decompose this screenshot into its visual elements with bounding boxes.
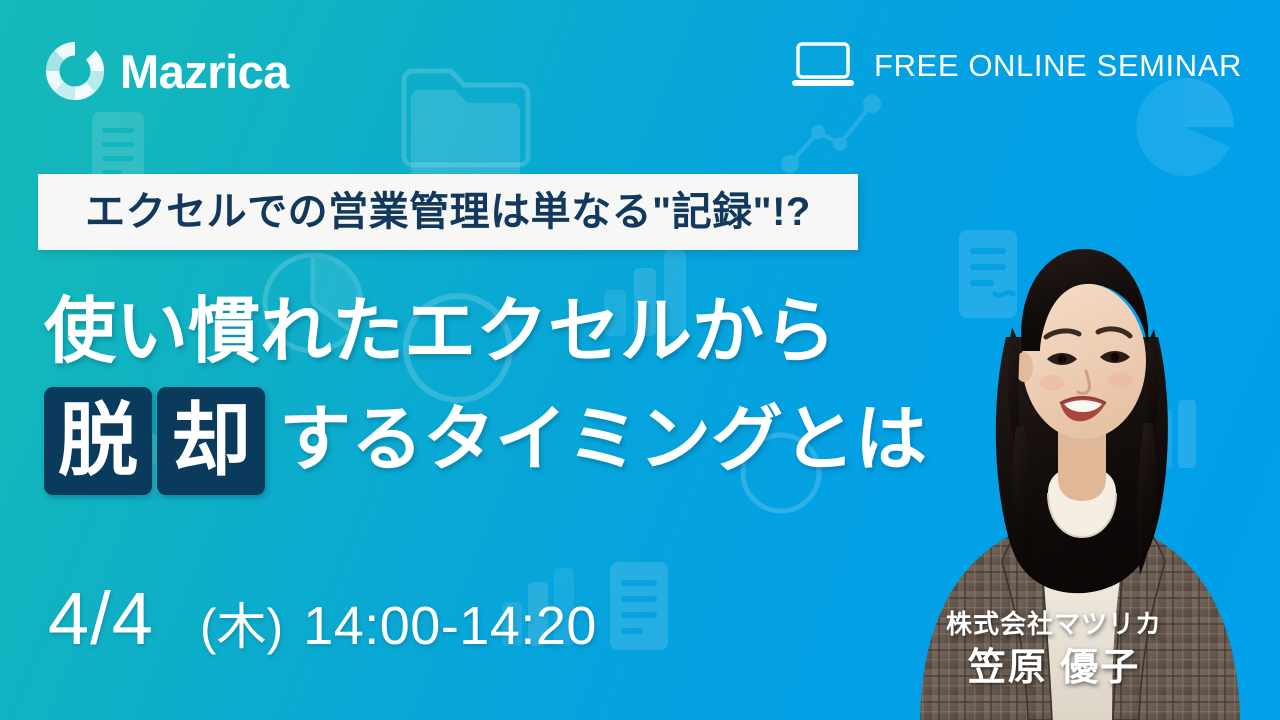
- schedule-time: 14:00-14:20: [303, 599, 597, 653]
- brand-logo-wordmark: Mazrica: [120, 48, 289, 95]
- folder-icon: [405, 78, 530, 183]
- title-line-1: 使い慣れたエクセルから: [44, 292, 944, 373]
- speaker-name: 笠原 優子: [946, 646, 1162, 692]
- schedule-weekday: (木): [200, 602, 283, 652]
- document-icon: [606, 560, 672, 652]
- speaker-caption: 株式会社マツリカ 笠原 優子: [946, 609, 1162, 692]
- brand-logo[interactable]: Mazrica: [44, 40, 289, 102]
- webinar-banner: Mazrica FREE ONLINE SEMINAR エクセルでの営業管理は単…: [0, 0, 1280, 720]
- headline-bar: エクセルでの営業管理は単なる"記録"!?: [38, 174, 858, 250]
- schedule: 4/4 (木) 14:00-14:20: [48, 582, 597, 656]
- mazrica-ring-icon: [44, 40, 106, 102]
- highlight-kanji-1: 脱: [44, 387, 152, 495]
- folder-outline-icon: [398, 62, 538, 172]
- seminar-tag: FREE ONLINE SEMINAR: [792, 42, 1242, 88]
- headline-text: エクセルでの営業管理は単なる"記録"!?: [85, 192, 811, 232]
- title-line-2: 脱 却 するタイミングとは: [44, 387, 944, 495]
- highlight-kanji-2: 却: [157, 387, 265, 495]
- pie-chart-icon: [1130, 72, 1240, 182]
- title-line-2-rest: するタイミングとは: [279, 400, 927, 481]
- network-node-icon: [778, 92, 883, 177]
- speaker-company: 株式会社マツリカ: [946, 609, 1162, 640]
- schedule-date: 4/4: [48, 582, 154, 656]
- seminar-tag-label: FREE ONLINE SEMINAR: [874, 50, 1242, 81]
- main-title: 使い慣れたエクセルから 脱 却 するタイミングとは: [44, 292, 944, 495]
- laptop-icon: [792, 42, 854, 88]
